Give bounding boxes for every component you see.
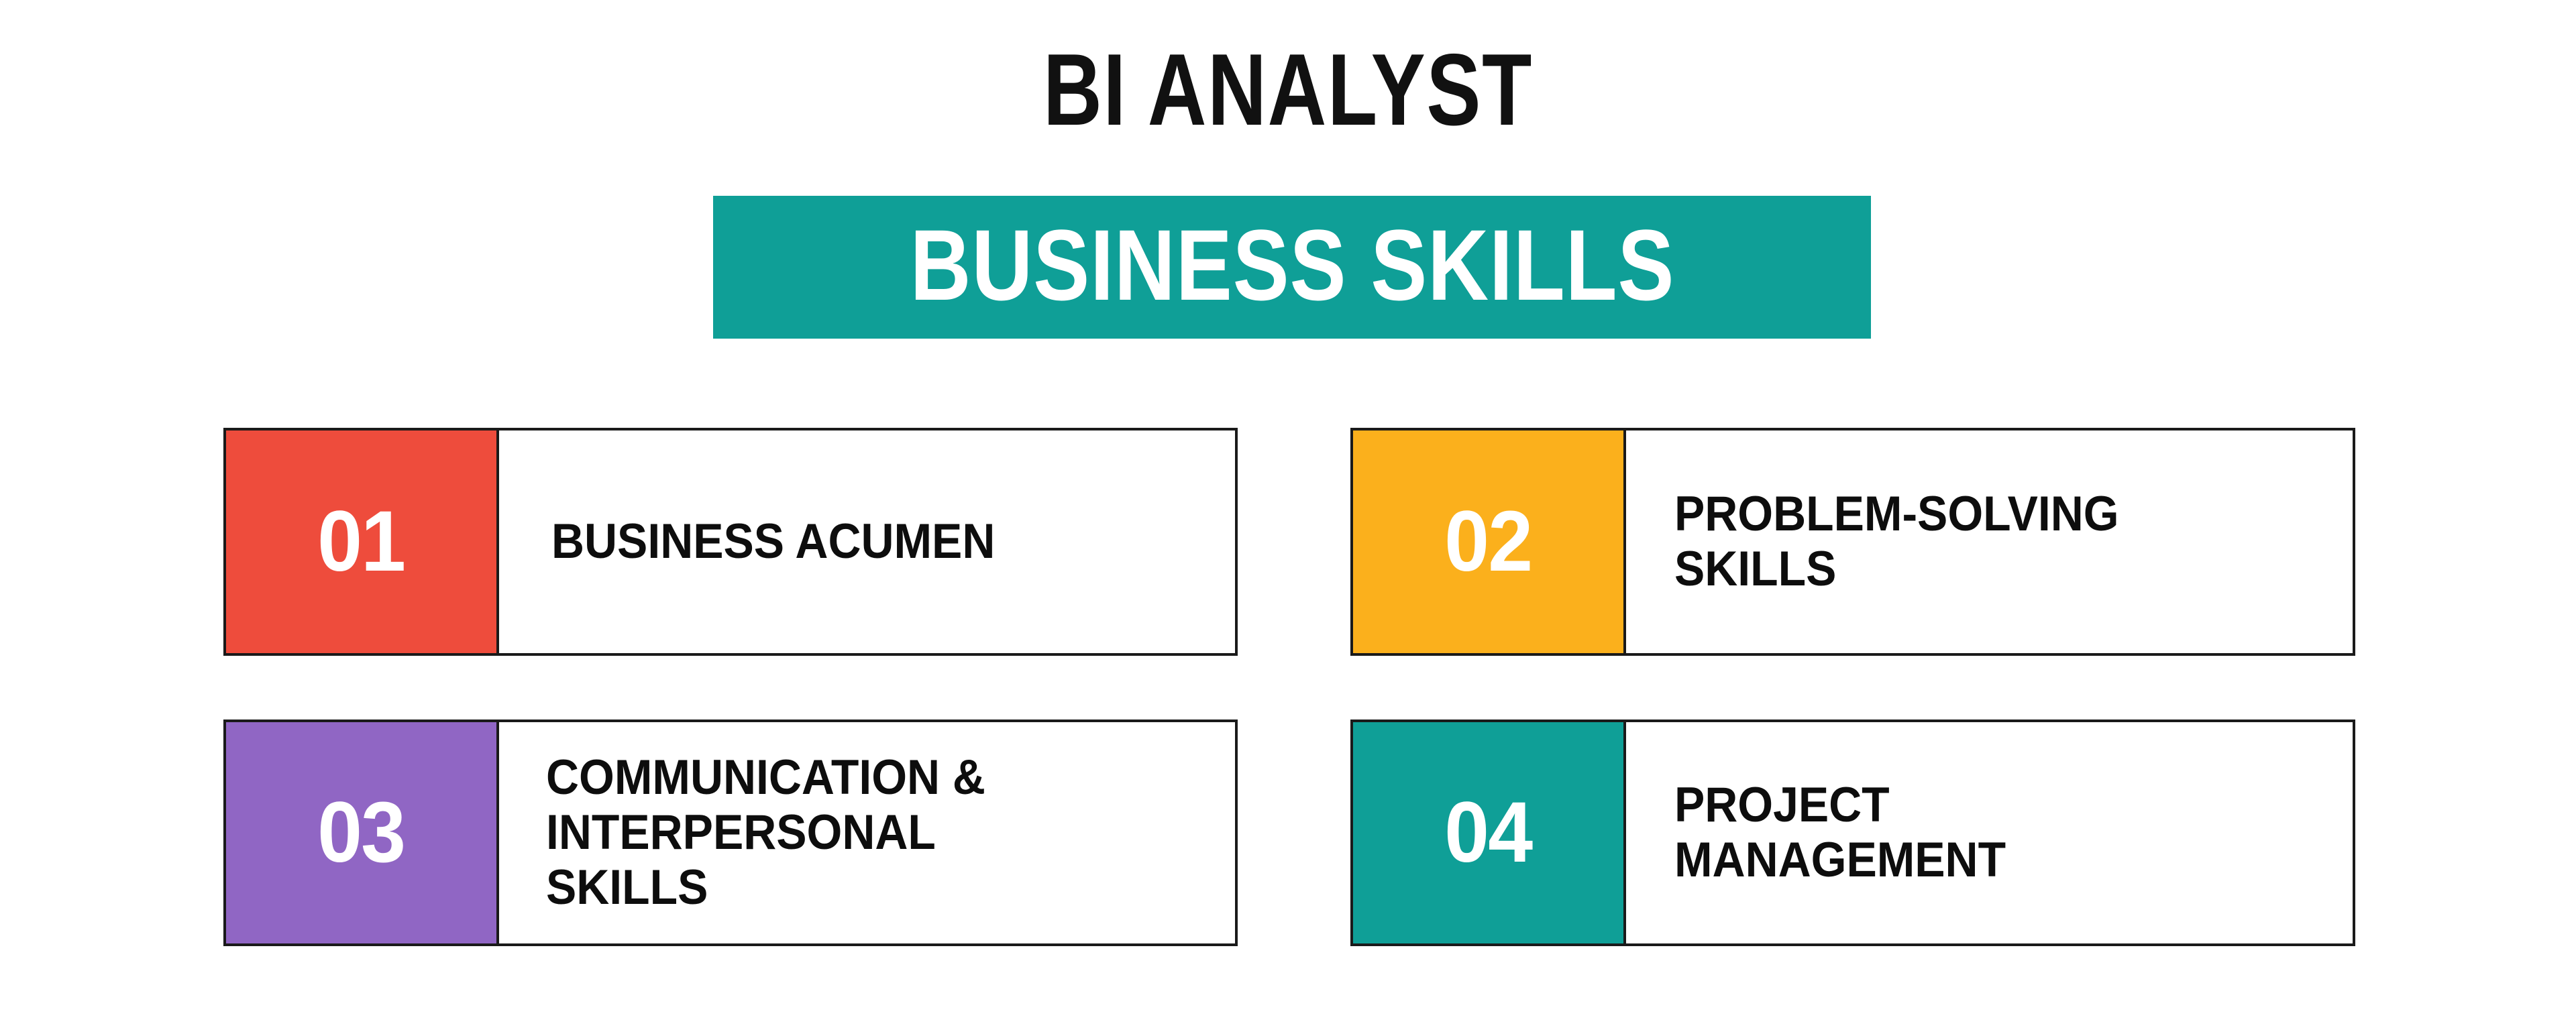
skill-card-04-number-box: 04 <box>1353 722 1626 943</box>
skill-card-01-body: BUSINESS ACUMEN <box>499 430 1235 653</box>
skill-card-04-label-line-2: MANAGEMENT <box>1674 833 2290 888</box>
skill-card-01-number-box: 01 <box>226 430 499 653</box>
skill-card-02-number: 02 <box>1444 499 1532 585</box>
skill-card-03-number-box: 03 <box>226 722 499 943</box>
skill-card-04-label-line-1: PROJECT <box>1674 778 2290 833</box>
skill-card-02[interactable]: 02 PROBLEM-SOLVING SKILLS <box>1350 428 2355 656</box>
skill-card-02-label-line-1: PROBLEM-SOLVING <box>1674 487 2290 542</box>
skill-card-04-body: PROJECT MANAGEMENT <box>1626 722 2353 943</box>
skill-card-02-body: PROBLEM-SOLVING SKILLS <box>1626 430 2353 653</box>
skill-card-03-body: COMMUNICATION & INTERPERSONAL SKILLS <box>499 722 1235 943</box>
skill-card-04-number: 04 <box>1444 790 1532 876</box>
skill-card-03-number: 03 <box>317 790 405 876</box>
skill-card-03-label-line-1: COMMUNICATION & <box>546 750 1172 805</box>
skill-card-03-label-line-3: SKILLS <box>546 860 1172 915</box>
skill-card-02-label-line-2: SKILLS <box>1674 542 2290 597</box>
skill-card-01-number: 01 <box>317 499 405 585</box>
skill-card-02-number-box: 02 <box>1353 430 1626 653</box>
skill-card-03[interactable]: 03 COMMUNICATION & INTERPERSONAL SKILLS <box>223 720 1238 946</box>
skills-card-grid: 01 BUSINESS ACUMEN 02 PROBLEM-SOLVING SK… <box>0 0 2576 1036</box>
skill-card-01-label-line-1: BUSINESS ACUMEN <box>551 514 1172 569</box>
skill-card-04[interactable]: 04 PROJECT MANAGEMENT <box>1350 720 2355 946</box>
skill-card-03-label-line-2: INTERPERSONAL <box>546 805 1172 860</box>
infographic-poster: BI ANALYST BUSINESS SKILLS 01 BUSINESS A… <box>0 0 2576 1036</box>
skill-card-01[interactable]: 01 BUSINESS ACUMEN <box>223 428 1238 656</box>
